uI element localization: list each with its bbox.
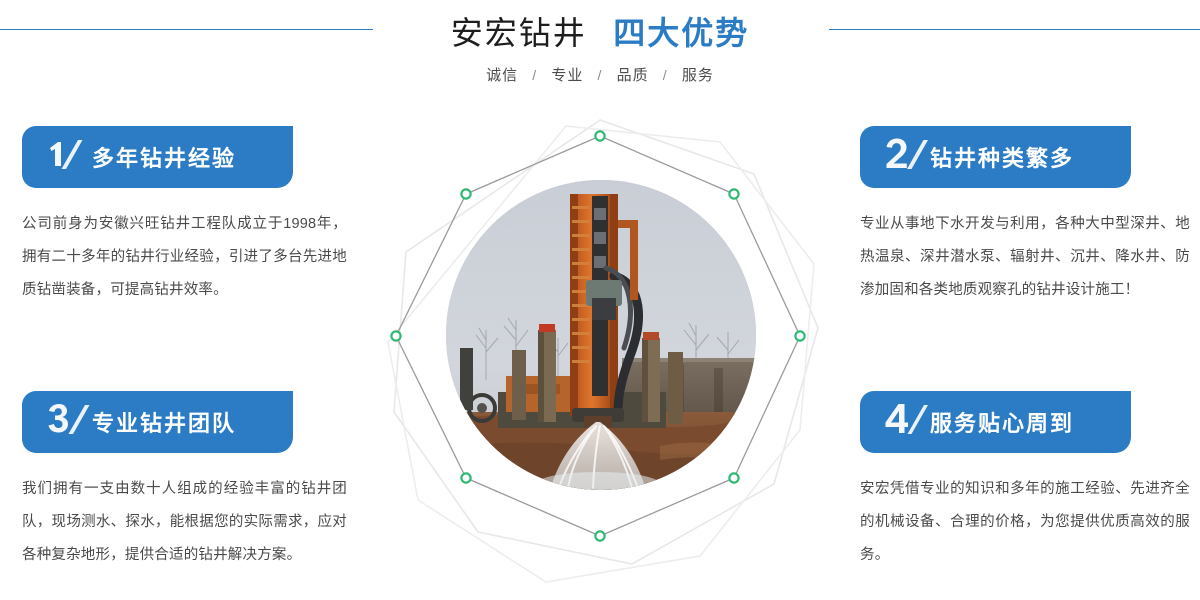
subtitle-item-1: 专业 [551,67,583,84]
feature-card-4: 服务贴心周到 安宏凭借专业的知识和多年的施工经验、先进齐全的机械设备、合理的价格… [860,391,1200,572]
subtitle-separator-0: / [532,67,537,83]
feature-card-1: 多年钻井经验 公司前身为安徽兴旺钻井工程队成立于1998年，拥有二十多年的钻井行… [22,126,362,307]
features-column-left: 多年钻井经验 公司前身为安徽兴旺钻井工程队成立于1998年，拥有二十多年的钻井行… [22,126,362,572]
feature-body-1: 公司前身为安徽兴旺钻井工程队成立于1998年，拥有二十多年的钻井行业经验，引进了… [22,208,347,307]
feature-body-4: 安宏凭借专业的知识和多年的施工经验、先进齐全的机械设备、合理的价格，为您提供优质… [860,473,1190,572]
number-two-icon [882,137,928,177]
number-four-icon [882,402,928,442]
feature-title-3: 专业钻井团队 [92,406,236,438]
vertex-marker-ne [729,189,738,198]
feature-badge-2[interactable]: 钻井种类繁多 [860,126,1131,188]
vertex-marker-w [391,331,400,340]
vertex-marker-nw [461,189,470,198]
feature-badge-4[interactable]: 服务贴心周到 [860,391,1131,453]
subtitle-separator-2: / [663,67,668,83]
page-title-accent: 四大优势 [613,15,749,51]
subtitle-item-2: 品质 [617,67,649,84]
subtitle-item-3: 服务 [682,67,714,84]
subtitle-item-0: 诚信 [486,67,518,84]
page-title: 安宏钻井 四大优势 [0,8,1200,54]
feature-card-2: 钻井种类繁多 专业从事地下水开发与利用，各种大中型深井、地热温泉、深井潜水泵、辐… [860,126,1200,307]
drilling-rig-photo [446,180,756,490]
page-header: 安宏钻井 四大优势 诚信 / 专业 / 品质 / 服务 [0,0,1200,112]
feature-title-4: 服务贴心周到 [930,406,1074,438]
promo-page: 安宏钻井 四大优势 诚信 / 专业 / 品质 / 服务 [0,0,1200,600]
features-column-right: 钻井种类繁多 专业从事地下水开发与利用，各种大中型深井、地热温泉、深井潜水泵、辐… [860,126,1200,572]
page-title-main: 安宏钻井 [451,15,587,51]
feature-card-3: 专业钻井团队 我们拥有一支由数十人组成的经验丰富的钻井团队，现场测水、探水，能根… [22,391,362,572]
feature-title-2: 钻井种类繁多 [930,141,1074,173]
page-subtitle: 诚信 / 专业 / 品质 / 服务 [0,64,1200,85]
vertex-marker-e [795,331,804,340]
feature-title-1: 多年钻井经验 [92,141,236,173]
vertex-marker-s [595,531,604,540]
number-three-icon [44,402,90,442]
feature-badge-3[interactable]: 专业钻井团队 [22,391,293,453]
feature-body-2: 专业从事地下水开发与利用，各种大中型深井、地热温泉、深井潜水泵、辐射井、沉井、降… [860,208,1190,307]
feature-badge-1[interactable]: 多年钻井经验 [22,126,293,188]
subtitle-separator-1: / [598,67,603,83]
vertex-marker-n [595,131,604,140]
center-graphic [370,112,830,600]
vertex-marker-sw [461,473,470,482]
feature-body-3: 我们拥有一支由数十人组成的经验丰富的钻井团队，现场测水、探水，能根据您的实际需求… [22,473,347,572]
number-one-icon [44,137,90,177]
vertex-marker-se [729,473,738,482]
